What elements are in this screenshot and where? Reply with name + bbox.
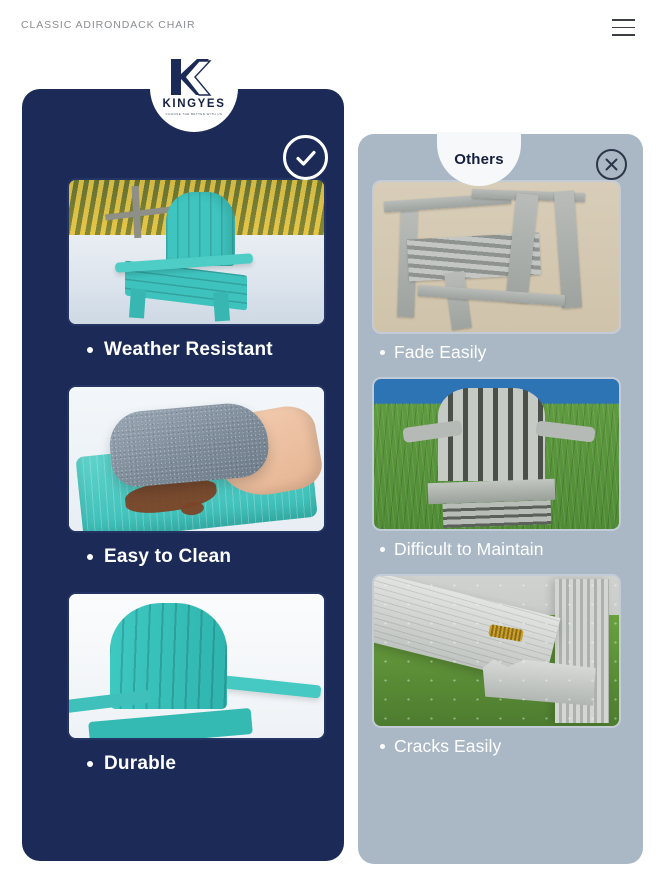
snow-chair-photo	[67, 178, 326, 326]
others-feature-text: Cracks Easily	[394, 736, 501, 757]
list-item: Difficult to Maintain	[372, 377, 629, 566]
page-title: CLASSIC ADIRONDACK CHAIR	[21, 19, 195, 31]
kingyes-feature-label: Easy to Clean	[67, 533, 329, 580]
cracked-rail-photo	[372, 574, 621, 728]
easy-clean-photo	[67, 385, 326, 533]
kingyes-feature-text: Durable	[104, 753, 176, 775]
top-bar: CLASSIC ADIRONDACK CHAIR	[0, 0, 659, 56]
brand-tagline: CHOOSE THE BETTER WITH US	[166, 113, 223, 116]
list-item: Cracks Easily	[372, 574, 629, 763]
others-feature-label: Cracks Easily	[372, 728, 629, 763]
kingyes-panel: KINGYES CHOOSE THE BETTER WITH US	[22, 89, 344, 861]
bullet-icon	[380, 547, 385, 552]
list-item: Easy to Clean	[67, 385, 329, 580]
check-circle-icon[interactable]	[283, 135, 328, 180]
weathered-chair-grass-photo	[372, 377, 621, 531]
product-comparison-page: CLASSIC ADIRONDACK CHAIR Others	[0, 0, 659, 879]
kingyes-feature-label: Durable	[67, 740, 329, 787]
bullet-icon	[380, 744, 385, 749]
others-feature-text: Fade Easily	[394, 342, 487, 363]
list-item: Fade Easily	[372, 180, 629, 369]
brand-name: KINGYES	[163, 99, 226, 111]
kingyes-feature-label: Weather Resistant	[67, 326, 329, 373]
durable-chair-photo	[67, 592, 326, 740]
list-item: Weather Resistant	[67, 178, 329, 373]
comparison-stage: Others	[0, 56, 659, 879]
bullet-icon	[380, 350, 385, 355]
x-circle-icon[interactable]	[596, 149, 627, 180]
others-title-badge: Others	[437, 132, 521, 186]
others-panel: Others	[358, 134, 643, 864]
kingyes-k-logo-icon	[167, 57, 221, 97]
others-title: Others	[454, 151, 504, 168]
bullet-icon	[87, 554, 93, 560]
kingyes-feature-list: Weather Resistant	[67, 178, 329, 799]
others-feature-label: Fade Easily	[372, 334, 629, 369]
hamburger-menu-icon[interactable]	[612, 19, 635, 36]
others-feature-label: Difficult to Maintain	[372, 531, 629, 566]
list-item: Durable	[67, 592, 329, 787]
bullet-icon	[87, 761, 93, 767]
bullet-icon	[87, 347, 93, 353]
others-feature-text: Difficult to Maintain	[394, 539, 544, 560]
brand-logo-badge: KINGYES CHOOSE THE BETTER WITH US	[150, 44, 238, 132]
kingyes-feature-text: Easy to Clean	[104, 546, 231, 568]
others-feature-list: Fade Easily	[372, 180, 629, 771]
kingyes-feature-text: Weather Resistant	[104, 339, 273, 361]
faded-chair-photo	[372, 180, 621, 334]
